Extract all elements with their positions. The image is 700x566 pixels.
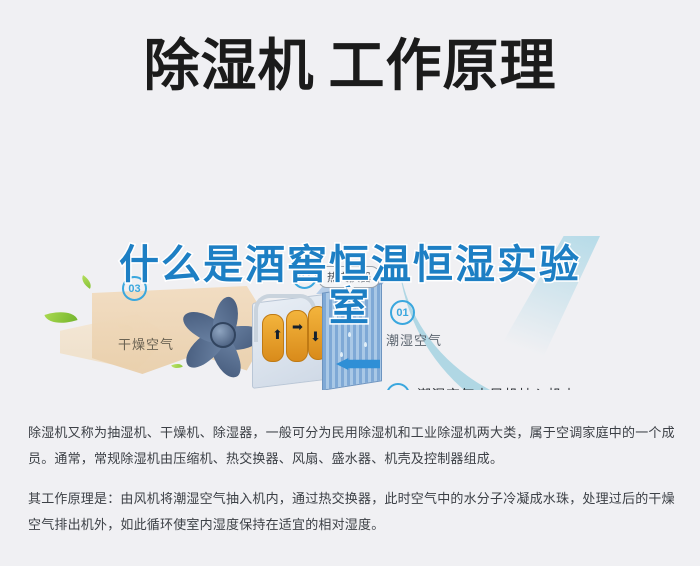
leaf-icon (44, 306, 77, 330)
water-droplet-icon (340, 352, 343, 357)
title-part-1: 除湿机 (144, 34, 315, 99)
heat-exchanger-assembly: ⬆ ➡ ⬇ (252, 280, 384, 390)
flow-arrow-up-icon: ⬆ (272, 328, 283, 341)
step-text-01: 潮湿空气由风机抽入机内 (417, 385, 577, 390)
evaporator-fins (322, 283, 382, 390)
callout-badge-02: 02 (292, 264, 317, 289)
water-droplet-icon (348, 332, 351, 337)
condenser-coil (286, 310, 308, 362)
water-droplet-icon (358, 310, 361, 315)
callout-badge-01-number: 01 (396, 307, 408, 319)
flow-arrow-right-icon: ➡ (292, 320, 303, 333)
step-badge-01: 01 (386, 383, 410, 390)
title-part-2: 工作原理 (329, 34, 557, 99)
step-item: 01 潮湿空气由风机抽入机内 (386, 376, 686, 390)
water-droplet-icon (334, 314, 337, 319)
humid-air-label: 潮湿空气 (386, 330, 442, 349)
step-badge-01-number: 01 (392, 390, 403, 391)
flow-arrow-down-icon: ⬇ (310, 330, 321, 343)
callout-badge-03: 03 (122, 276, 147, 301)
infographic-page: 除湿机工作原理 03 干燥空气 (0, 0, 700, 566)
step-list: 01 潮湿空气由风机抽入机内 02 潮湿空气经过蒸发器冷凝成水珠 03 从上部出… (386, 376, 686, 390)
dry-air-label: 干燥空气 (118, 334, 174, 353)
body-copy: 除湿机又称为抽湿机、干燥机、除湿器，一般可分为民用除湿机和工业除湿机两大类，属于… (28, 420, 676, 538)
body-paragraph-1: 除湿机又称为抽湿机、干燥机、除湿器，一般可分为民用除湿机和工业除湿机两大类，属于… (28, 420, 676, 472)
body-paragraph-2: 其工作原理是：由风机将潮湿空气抽入机内，通过热交换器，此时空气中的水分子冷凝成水… (28, 486, 676, 538)
page-title: 除湿机工作原理 (0, 28, 700, 106)
title-text: 除湿机工作原理 (144, 39, 557, 95)
water-droplet-icon (364, 342, 367, 347)
callout-badge-02-number: 02 (298, 271, 310, 283)
fan-hub (210, 322, 236, 348)
callout-badge-01: 01 (390, 300, 415, 325)
dehumidifier-diagram: 03 干燥空气 ⬆ ➡ ⬇ (0, 118, 700, 390)
callout-badge-03-number: 03 (128, 283, 140, 295)
heat-exchanger-callout-bubble: 热交换器 (318, 266, 380, 288)
leaf-icon (79, 275, 94, 289)
